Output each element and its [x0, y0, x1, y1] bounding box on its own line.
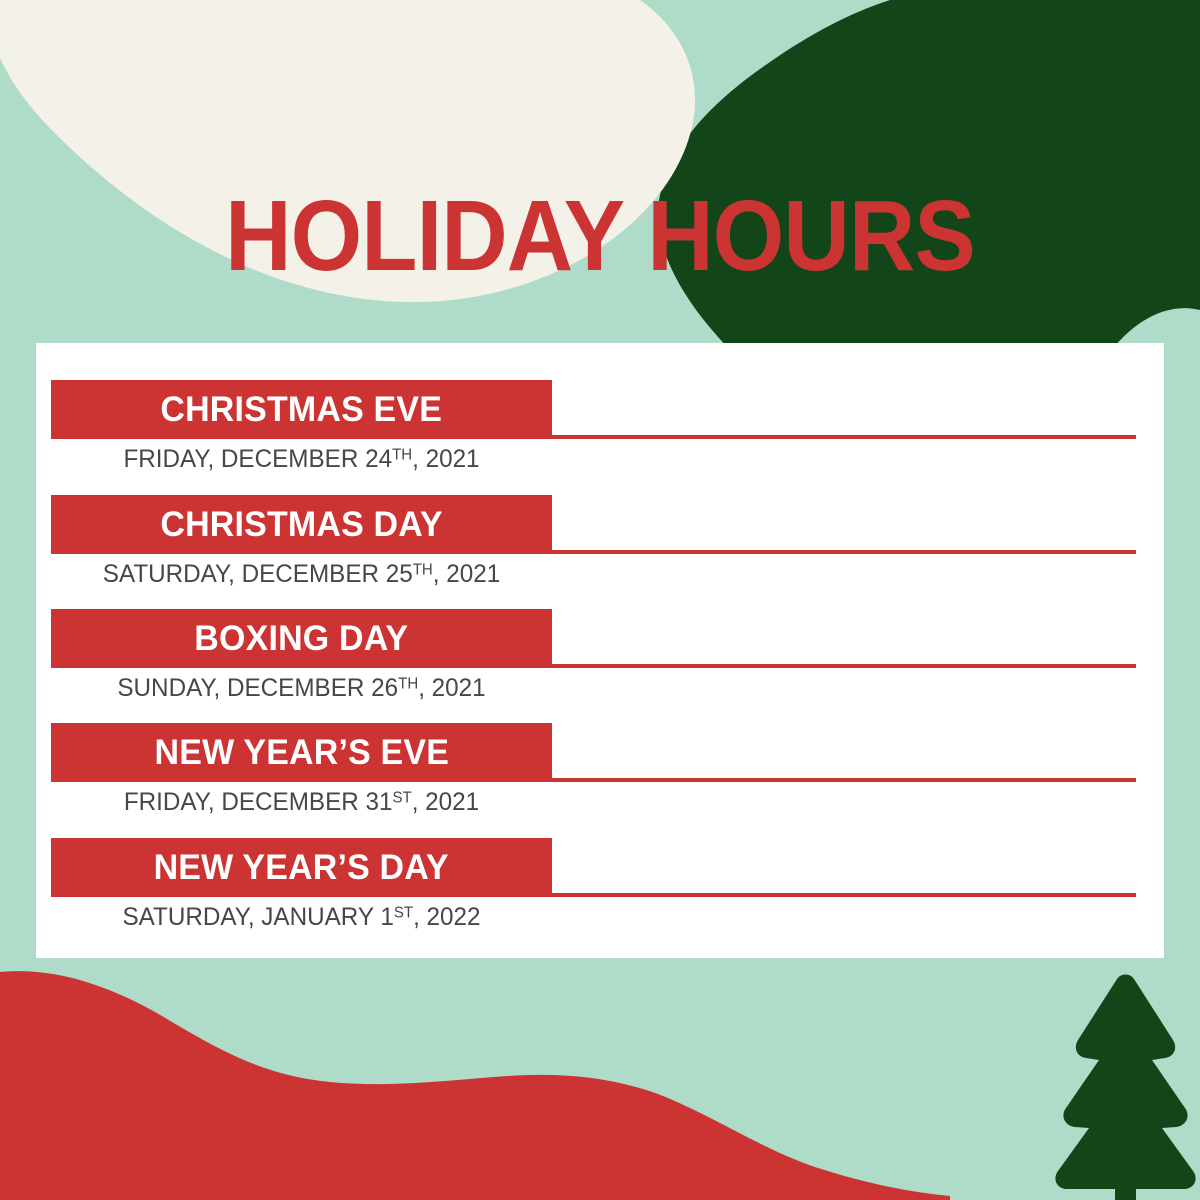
holiday-name: NEW YEAR’S DAY — [154, 850, 449, 885]
holiday-name: BOXING DAY — [195, 621, 409, 656]
holiday-date-ordinal: TH — [392, 447, 412, 464]
holiday-date-weekday: SUNDAY, DECEMBER 26 — [117, 674, 398, 702]
holiday-date-ordinal: TH — [413, 562, 433, 579]
schedule-row: NEW YEAR’S EVE FRIDAY, DECEMBER 31ST, 20… — [51, 723, 1164, 836]
hours-entry-line — [552, 893, 1136, 897]
schedule-row: NEW YEAR’S DAY SATURDAY, JANUARY 1ST, 20… — [51, 838, 1164, 951]
holiday-banner: BOXING DAY — [51, 609, 552, 668]
holiday-date-ordinal: TH — [398, 676, 418, 693]
holiday-date-year: , 2021 — [412, 788, 479, 816]
holiday-name: CHRISTMAS EVE — [161, 392, 443, 427]
holiday-date: FRIDAY, DECEMBER 24TH, 2021 — [59, 442, 545, 476]
holiday-banner: NEW YEAR’S DAY — [51, 838, 552, 897]
hours-entry-line — [552, 550, 1136, 554]
schedule-card: CHRISTMAS EVE FRIDAY, DECEMBER 24TH, 202… — [36, 343, 1164, 958]
christmas-tree-icon — [1055, 975, 1195, 1200]
holiday-date: SATURDAY, JANUARY 1ST, 2022 — [59, 900, 545, 934]
holiday-name: NEW YEAR’S EVE — [154, 735, 449, 770]
holiday-date-ordinal: ST — [394, 905, 413, 922]
holiday-banner: CHRISTMAS DAY — [51, 495, 552, 554]
schedule-row: CHRISTMAS EVE FRIDAY, DECEMBER 24TH, 202… — [51, 380, 1164, 493]
holiday-date: SATURDAY, DECEMBER 25TH, 2021 — [59, 557, 545, 591]
holiday-hours-poster: HOLIDAY HOURS CHRISTMAS EVE FRIDAY, DECE… — [0, 0, 1200, 1200]
holiday-date: SUNDAY, DECEMBER 26TH, 2021 — [59, 671, 545, 705]
page-title: HOLIDAY HOURS — [48, 186, 1152, 286]
holiday-date-year: , 2021 — [433, 560, 500, 588]
schedule-row: BOXING DAY SUNDAY, DECEMBER 26TH, 2021 — [51, 609, 1164, 722]
hours-entry-line — [552, 664, 1136, 668]
holiday-date-weekday: SATURDAY, DECEMBER 25 — [103, 560, 413, 588]
holiday-date-year: , 2021 — [412, 445, 479, 473]
holiday-date: FRIDAY, DECEMBER 31ST, 2021 — [59, 785, 545, 819]
hours-entry-line — [552, 435, 1136, 439]
holiday-name: CHRISTMAS DAY — [160, 507, 442, 542]
holiday-date-weekday: SATURDAY, JANUARY 1 — [123, 903, 394, 931]
holiday-date-year: , 2022 — [413, 903, 480, 931]
holiday-date-weekday: FRIDAY, DECEMBER 31 — [124, 788, 393, 816]
schedule-rows: CHRISTMAS EVE FRIDAY, DECEMBER 24TH, 202… — [36, 343, 1164, 958]
hours-entry-line — [552, 778, 1136, 782]
holiday-banner: CHRISTMAS EVE — [51, 380, 552, 439]
schedule-row: CHRISTMAS DAY SATURDAY, DECEMBER 25TH, 2… — [51, 495, 1164, 608]
red-wave-shape — [0, 971, 950, 1200]
holiday-date-year: , 2021 — [418, 674, 485, 702]
holiday-date-weekday: FRIDAY, DECEMBER 24 — [123, 445, 392, 473]
holiday-banner: NEW YEAR’S EVE — [51, 723, 552, 782]
holiday-date-ordinal: ST — [392, 790, 411, 807]
